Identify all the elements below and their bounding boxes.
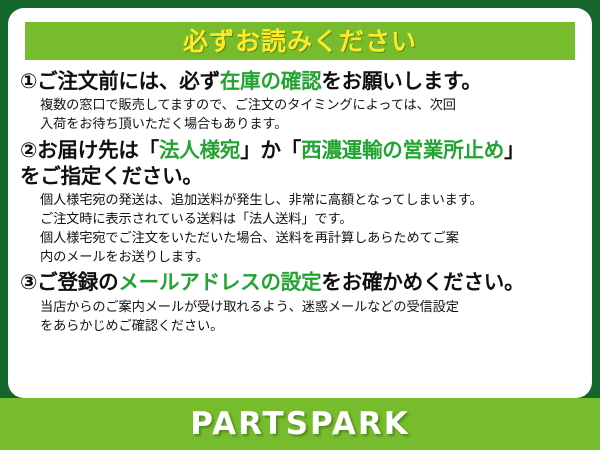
header-band: 必ずお読みください (25, 22, 575, 60)
notice-item-1-marker: ① (20, 69, 37, 93)
notice-item-3-body-line-2: をあらかじめご確認ください。 (40, 317, 582, 336)
notice-item-1-body-line-2: 入荷をお待ち頂いただく場合もあります。 (40, 115, 582, 134)
notice-item-2-heading: ②お届け先は「法人様宛」か「西濃運輸の営業所止め」をご指定ください。 (18, 137, 582, 190)
notice-item-2-body: 個人様宅宛の発送は、追加送料が発生し、非常に高額となってしまいます。 ご注文時に… (18, 191, 582, 268)
notice-item-1-heading-highlight: 在庫の確認 (220, 69, 322, 93)
notice-item-1-heading: ①ご注文前には、必ず在庫の確認をお願いします。 (18, 68, 582, 95)
notice-item-2-heading-part-1: お届け先は「 (37, 138, 159, 162)
notice-item-3-heading: ③ご登録のメールアドレスの設定をお確かめください。 (18, 269, 582, 296)
notice-item-2-marker: ② (20, 138, 37, 162)
notice-item-2: ②お届け先は「法人様宛」か「西濃運輸の営業所止め」をご指定ください。 個人様宅宛… (18, 137, 582, 268)
notice-frame: 必ずお読みください ①ご注文前には、必ず在庫の確認をお願いします。 複数の窓口で… (0, 0, 600, 450)
header-title: 必ずお読みください (183, 29, 417, 54)
notice-item-2-body-line-2: ご注文時に表示されている送料は「法人送料」です。 (40, 210, 582, 229)
notice-item-2-heading-part-6: をご指定ください。 (20, 164, 203, 188)
notice-item-2-heading-part-5: 」 (504, 138, 524, 162)
notice-item-1-body: 複数の窓口で販売してますので、ご注文のタイミングによっては、次回 入荷をお待ち頂… (18, 96, 582, 134)
notice-item-3-body: 当店からのご案内メールが受け取れるよう、迷惑メールなどの受信設定 をあらかじめご… (18, 298, 582, 336)
notice-item-3-body-line-1: 当店からのご案内メールが受け取れるよう、迷惑メールなどの受信設定 (40, 298, 582, 317)
notice-item-3-marker: ③ (20, 270, 37, 294)
brand-logo-partspark: PARTSPARK (190, 409, 410, 440)
notice-item-1-heading-part-1: ご注文前には、必ず (37, 69, 220, 93)
notice-item-2-body-line-1: 個人様宅宛の発送は、追加送料が発生し、非常に高額となってしまいます。 (40, 191, 582, 210)
notice-item-1-heading-part-3: をお願いします。 (321, 69, 481, 93)
notice-item-3-heading-highlight: メールアドレスの設定 (118, 270, 321, 294)
notice-item-3-heading-part-1: ご登録の (37, 270, 118, 294)
notice-item-2-body-line-3: 個人様宅宛でご注文をいただいた場合、送料を再計算しあらためてご案 (40, 229, 582, 248)
notice-item-2-heading-highlight-2: 西濃運輸の営業所止め (301, 138, 504, 162)
notice-item-1-body-line-1: 複数の窓口で販売してますので、ご注文のタイミングによっては、次回 (40, 96, 582, 115)
notice-item-1: ①ご注文前には、必ず在庫の確認をお願いします。 複数の窓口で販売してますので、ご… (18, 68, 582, 135)
notice-panel: 必ずお読みください ①ご注文前には、必ず在庫の確認をお願いします。 複数の窓口で… (8, 8, 592, 398)
notice-item-2-heading-part-3: 」か「 (240, 138, 301, 162)
notice-item-list: ①ご注文前には、必ず在庫の確認をお願いします。 複数の窓口で販売してますので、ご… (8, 68, 592, 338)
notice-item-3: ③ご登録のメールアドレスの設定をお確かめください。 当店からのご案内メールが受け… (18, 269, 582, 336)
footer-band: PARTSPARK (0, 398, 600, 450)
notice-item-2-body-line-4: 内のメールをお送りします。 (40, 248, 582, 267)
notice-item-2-heading-highlight-1: 法人様宛 (159, 138, 240, 162)
notice-item-3-heading-part-3: をお確かめください。 (321, 270, 524, 294)
